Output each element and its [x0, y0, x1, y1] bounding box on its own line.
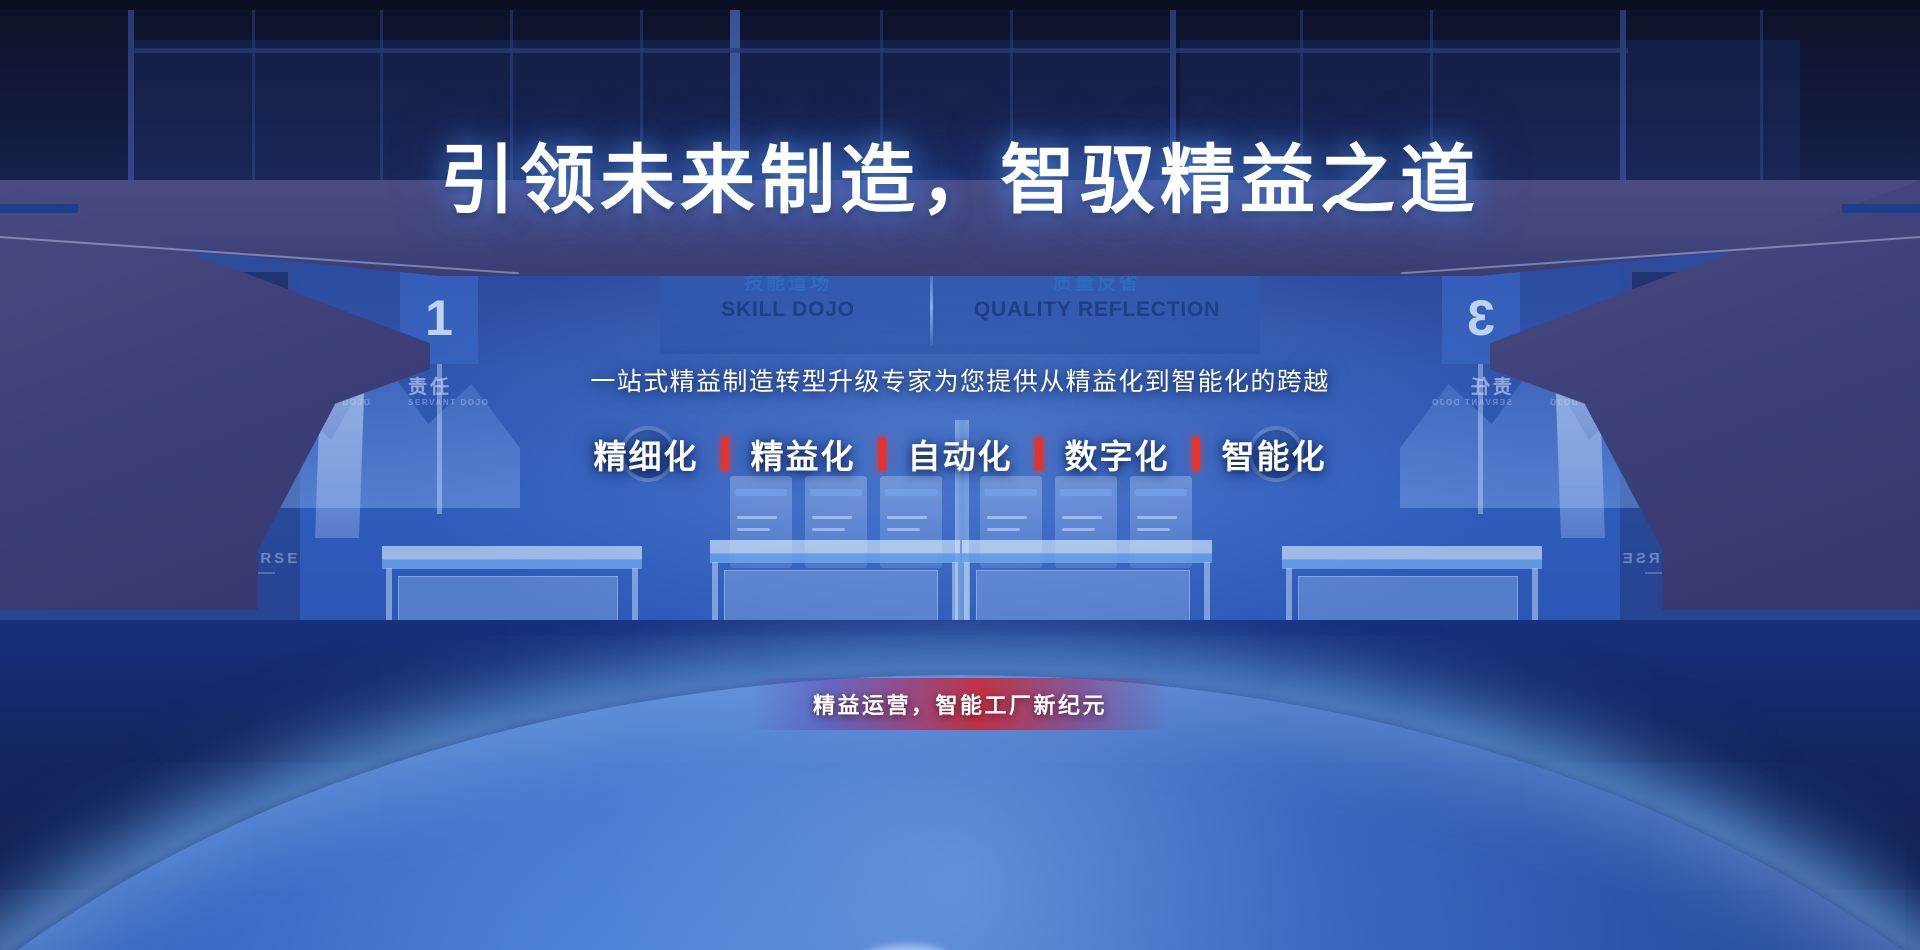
page-title: 引领未来制造，智驭精益之道 — [0, 143, 1920, 218]
keyword-separator-icon — [1035, 437, 1043, 471]
hero-content: 引领未来制造，智驭精益之道 一站式精益制造转型升级专家为您提供从精益化到智能化的… — [0, 0, 1920, 950]
tagline-text: 精益运营，智能工厂新纪元 — [813, 688, 1107, 720]
keyword-separator-icon — [721, 437, 729, 471]
hero-subtitle: 一站式精益制造转型升级专家为您提供从精益化到智能化的跨越 — [0, 362, 1920, 398]
tagline-ribbon: 精益运营，智能工厂新纪元 — [750, 678, 1170, 730]
keyword-item: 自动化 — [886, 430, 1035, 478]
keyword-separator-icon — [1192, 437, 1200, 471]
hero-banner: 创新 SERVANT DOJO 责任 SERVANT DOJO ENTERPRI… — [0, 0, 1920, 950]
keyword-item: 精细化 — [572, 430, 721, 478]
keyword-item: 智能化 — [1200, 430, 1349, 478]
keyword-separator-icon — [878, 437, 886, 471]
keyword-item: 数字化 — [1043, 430, 1192, 478]
keyword-item: 精益化 — [729, 430, 878, 478]
keyword-list: 精细化 精益化 自动化 数字化 智能化 — [0, 430, 1920, 478]
